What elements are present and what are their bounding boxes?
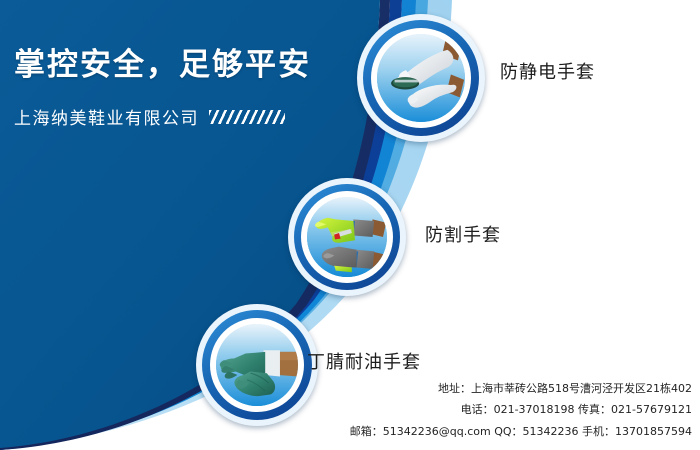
- contact-phone-fax: 电话：021-37018198 传真：021-57679121: [350, 399, 692, 420]
- product-label-nitrile: 丁腈耐油手套: [307, 348, 421, 374]
- promo-banner: 掌控安全，足够平安 上海纳美鞋业有限公司: [0, 0, 700, 450]
- slash-hatch-icon: [209, 110, 285, 124]
- cut-resistant-glove-photo: [307, 197, 387, 277]
- anti-static-glove-photo: [377, 34, 465, 122]
- product-badge-cut-resistant[interactable]: [288, 178, 406, 296]
- product-label-anti-static: 防静电手套: [500, 58, 595, 84]
- contact-address: 地址：上海市莘砖公路518号漕河泾开发区21栋402: [350, 378, 692, 399]
- contact-email-qq-mobile: 邮箱：51342236@qq.com QQ：51342236 手机：137018…: [350, 421, 692, 442]
- product-badge-nitrile[interactable]: [196, 304, 318, 426]
- page-title: 掌控安全，足够平安: [14, 48, 414, 82]
- company-name: 上海纳美鞋业有限公司: [14, 104, 199, 129]
- product-badge-anti-static[interactable]: [357, 14, 485, 142]
- headline-block: 掌控安全，足够平安 上海纳美鞋业有限公司: [14, 48, 414, 129]
- company-line: 上海纳美鞋业有限公司: [14, 104, 414, 129]
- nitrile-glove-photo: [216, 324, 298, 406]
- contact-info-block: 地址：上海市莘砖公路518号漕河泾开发区21栋402 电话：021-370181…: [350, 378, 692, 442]
- product-label-cut-resistant: 防割手套: [425, 221, 501, 247]
